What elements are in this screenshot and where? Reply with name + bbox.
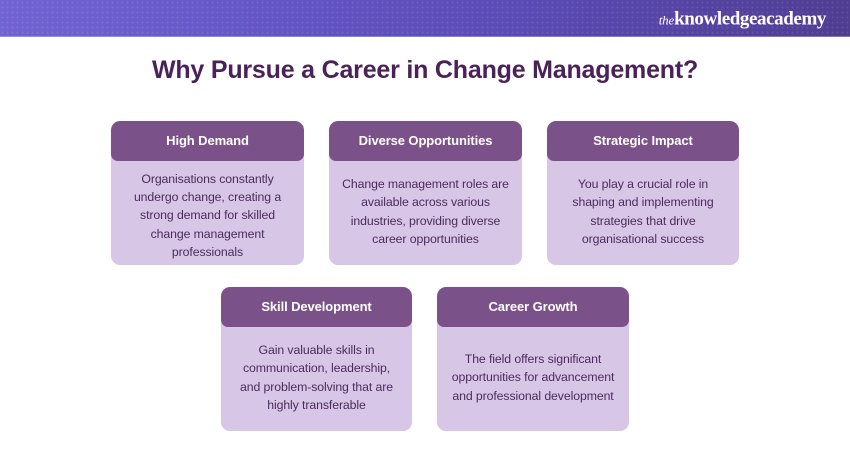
- brand-logo-name: knowledgeacademy: [674, 8, 826, 29]
- brand-logo-prefix: the: [659, 12, 674, 27]
- info-card-high-demand: High Demand Organisations constantly und…: [111, 121, 304, 265]
- info-card-body: Gain valuable skills in communication, l…: [221, 327, 412, 431]
- info-card-title: Skill Development: [221, 287, 412, 327]
- info-card-strategic-impact: Strategic Impact You play a crucial role…: [547, 121, 739, 265]
- info-card-title: High Demand: [111, 121, 304, 161]
- page-title: Why Pursue a Career in Change Management…: [0, 56, 850, 85]
- brand-logo: theknowledgeacademy: [659, 9, 826, 28]
- info-card-body: The field offers significant opportuniti…: [437, 327, 629, 431]
- info-card-career-growth: Career Growth The field offers significa…: [437, 287, 629, 431]
- info-card-title: Strategic Impact: [547, 121, 739, 161]
- top-banner: theknowledgeacademy: [0, 0, 850, 37]
- info-card-body: You play a crucial role in shaping and i…: [547, 161, 739, 265]
- banner-underline: [0, 36, 850, 37]
- info-card-skill-development: Skill Development Gain valuable skills i…: [221, 287, 412, 431]
- info-card-title: Career Growth: [437, 287, 629, 327]
- info-card-diverse-opportunities: Diverse Opportunities Change management …: [329, 121, 522, 265]
- info-card-title: Diverse Opportunities: [329, 121, 522, 161]
- info-card-body: Organisations constantly undergo change,…: [111, 161, 304, 265]
- info-card-body: Change management roles are available ac…: [329, 161, 522, 265]
